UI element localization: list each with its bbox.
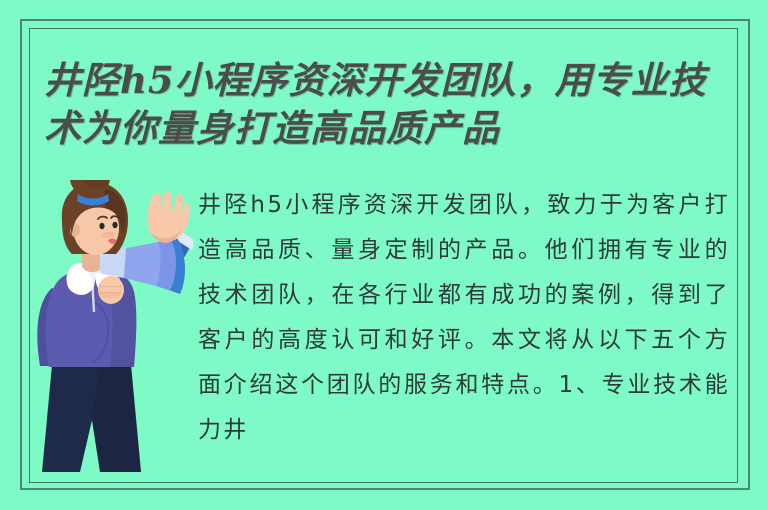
promo-banner: 井陉h5小程序资深开发团队，用专业技术为你量身打造高品质产品 bbox=[0, 0, 768, 510]
skirt-shape bbox=[42, 365, 141, 472]
woman-with-megaphone-illustration bbox=[30, 180, 212, 483]
body-paragraph: 井陉h5小程序资深开发团队，致力于为客户打造高品质、量身定制的产品。他们拥有专业… bbox=[198, 183, 730, 453]
gripping-hand bbox=[98, 276, 124, 304]
head bbox=[62, 180, 128, 255]
page-title: 井陉h5小程序资深开发团队，用专业技术为你量身打造高品质产品 bbox=[44, 56, 734, 152]
